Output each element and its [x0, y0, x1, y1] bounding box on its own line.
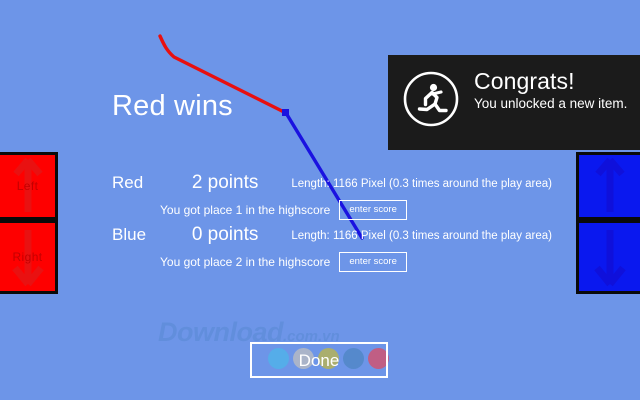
- score-sub-blue: You got place 2 in the highscore enter s…: [112, 250, 552, 274]
- winner-title: Red wins: [112, 90, 233, 123]
- toast-title: Congrats!: [474, 69, 627, 93]
- score-row-red: Red 2 points Length: 1166 Pixel (0.3 tim…: [112, 172, 552, 224]
- player-length-red: Length: 1166 Pixel (0.3 times around the…: [291, 178, 552, 190]
- toast-text-group: Congrats! You unlocked a new item.: [474, 68, 627, 113]
- arrow-down-icon: [0, 223, 55, 291]
- player-name-red: Red: [112, 173, 187, 193]
- score-sub-red: You got place 1 in the highscore enter s…: [112, 198, 552, 222]
- score-main-red: Red 2 points Length: 1166 Pixel (0.3 tim…: [112, 172, 552, 198]
- running-person-icon: [402, 70, 460, 128]
- game-result-screen: Left Right Left Right Red wins: [0, 0, 640, 400]
- player-length-blue: Length: 1166 Pixel (0.3 times around the…: [291, 230, 552, 242]
- player-name-blue: Blue: [112, 225, 187, 245]
- score-main-blue: Blue 0 points Length: 1166 Pixel (0.3 ti…: [112, 224, 552, 250]
- arrow-up-icon: [0, 155, 55, 217]
- arrow-down-icon: [579, 223, 640, 291]
- highscore-text-blue: You got place 2 in the highscore: [160, 255, 330, 269]
- score-row-blue: Blue 0 points Length: 1166 Pixel (0.3 ti…: [112, 224, 552, 276]
- arrow-up-icon: [579, 155, 640, 217]
- toast-body: You unlocked a new item.: [474, 96, 627, 112]
- control-pad-red-left[interactable]: Left: [0, 152, 58, 220]
- scoreboard: Red 2 points Length: 1166 Pixel (0.3 tim…: [112, 172, 552, 276]
- enter-score-button-red[interactable]: enter score: [339, 200, 407, 221]
- control-pad-blue-right[interactable]: Right: [576, 220, 640, 294]
- control-pad-red-right[interactable]: Right: [0, 220, 58, 294]
- control-pad-blue-left[interactable]: Left: [576, 152, 640, 220]
- enter-score-button-blue[interactable]: enter score: [339, 252, 407, 273]
- highscore-text-red: You got place 1 in the highscore: [160, 203, 330, 217]
- trail-joint-marker: [282, 109, 289, 116]
- player-points-blue: 0 points: [187, 224, 258, 246]
- done-button[interactable]: Done: [250, 342, 388, 378]
- player-points-red: 2 points: [187, 172, 258, 194]
- achievement-toast[interactable]: Congrats! You unlocked a new item.: [388, 55, 640, 150]
